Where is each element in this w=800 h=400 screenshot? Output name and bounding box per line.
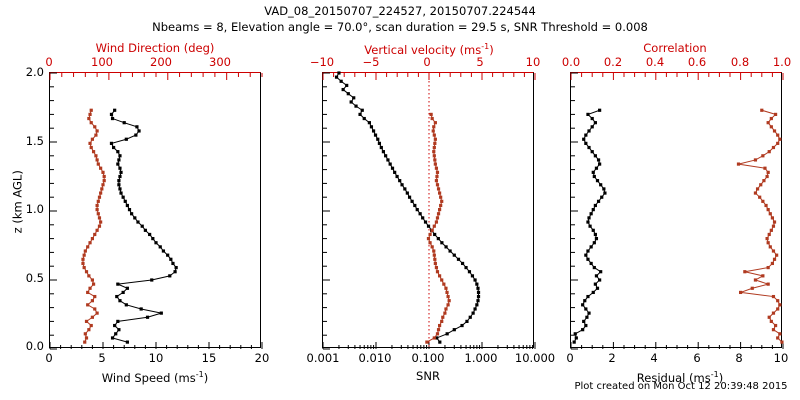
wind-dir-tick-300: 300 xyxy=(204,57,236,69)
residual-tick-marks xyxy=(571,342,783,349)
snr-tick-10p000: 10.000 xyxy=(513,353,557,365)
wind-speed-axis-title-end: ) xyxy=(204,371,209,385)
y-tick-1: 1.0 xyxy=(8,204,44,216)
wind-speed-tick-5: 5 xyxy=(92,353,112,365)
panel-residual-profile[interactable] xyxy=(570,72,782,348)
corr-tick-0p4: 0.4 xyxy=(640,57,670,69)
corr-tick-0p6: 0.6 xyxy=(682,57,712,69)
wind-dir-tick-0: 0 xyxy=(39,57,59,69)
y-tick-2: 2.0 xyxy=(8,67,44,79)
vertical-velocity-axis-title-end: ) xyxy=(489,43,494,57)
wind-speed-tick-10: 10 xyxy=(140,353,172,365)
wind-speed-tick-0: 0 xyxy=(39,353,59,365)
residual-tick-6: 6 xyxy=(687,353,707,365)
corr-tick-1p0: 1.0 xyxy=(767,57,797,69)
residual-profile-series xyxy=(573,109,784,344)
y-tick-1p5: 1.5 xyxy=(8,136,44,148)
vv-tick-neg10: −10 xyxy=(305,57,339,69)
height-tick-marks-left xyxy=(50,73,57,349)
wind-profile-plot-area xyxy=(50,73,262,349)
snr-profile-series xyxy=(335,71,480,343)
y-tick-0p5: 0.5 xyxy=(8,273,44,285)
snr-profile-plot-area xyxy=(323,73,535,349)
snr-tick-0p001: 0.001 xyxy=(304,353,342,365)
plot-subtitle: Nbeams = 8, Elevation angle = 70.0°, sca… xyxy=(0,22,800,34)
snr-axis-title: SNR xyxy=(333,371,523,383)
wind-dir-tick-100: 100 xyxy=(86,57,118,69)
wind-speed-axis-title-exponent: -1 xyxy=(196,370,204,379)
vv-tick-10: 10 xyxy=(518,57,548,69)
corr-tick-0p8: 0.8 xyxy=(725,57,755,69)
residual-tick-4: 4 xyxy=(644,353,664,365)
panel-snr-profile[interactable] xyxy=(322,72,534,348)
corr-tick-0p2: 0.2 xyxy=(598,57,628,69)
residual-axis-title-exponent: -1 xyxy=(711,370,719,379)
vv-tick-0: 0 xyxy=(417,57,437,69)
panel-wind-profile[interactable] xyxy=(49,72,261,348)
wind-direction-axis-title: Wind Direction (deg) xyxy=(60,43,250,55)
snr-tick-1p000: 1.000 xyxy=(462,353,500,365)
wind-direction-tick-marks xyxy=(50,73,262,80)
wind-profile-series xyxy=(81,109,177,344)
correlation-axis-title: Correlation xyxy=(580,43,770,55)
correlation-tick-marks xyxy=(571,73,783,80)
residual-tick-8: 8 xyxy=(729,353,749,365)
wind-speed-axis-title-main: Wind Speed (ms xyxy=(102,371,196,385)
y-axis-label: z (km AGL) xyxy=(12,162,24,242)
residual-tick-2: 2 xyxy=(602,353,622,365)
wind-speed-tick-marks xyxy=(50,342,262,349)
y-tick-0: 0.0 xyxy=(8,341,44,353)
residual-tick-0: 0 xyxy=(560,353,580,365)
vv-tick-5: 5 xyxy=(470,57,490,69)
page-title: VAD_08_20150707_224527, 20150707.224544 xyxy=(0,6,800,18)
wind-speed-tick-20: 20 xyxy=(246,353,278,365)
height-tick-marks-left xyxy=(571,73,578,349)
vv-tick-neg5: −5 xyxy=(357,57,385,69)
residual-tick-10: 10 xyxy=(768,353,794,365)
height-tick-marks-left xyxy=(323,73,330,349)
wind-speed-axis-title: Wind Speed (ms-1) xyxy=(60,371,250,384)
snr-tick-0p100: 0.100 xyxy=(409,353,447,365)
wind-dir-tick-200: 200 xyxy=(145,57,177,69)
wind-speed-tick-15: 15 xyxy=(193,353,225,365)
plot-timestamp-footer: Plot created on Mon Oct 12 20:39:48 2015 xyxy=(565,382,797,392)
snr-tick-0p010: 0.010 xyxy=(356,353,394,365)
corr-tick-0p0: 0.0 xyxy=(556,57,586,69)
residual-profile-plot-area xyxy=(571,73,783,349)
